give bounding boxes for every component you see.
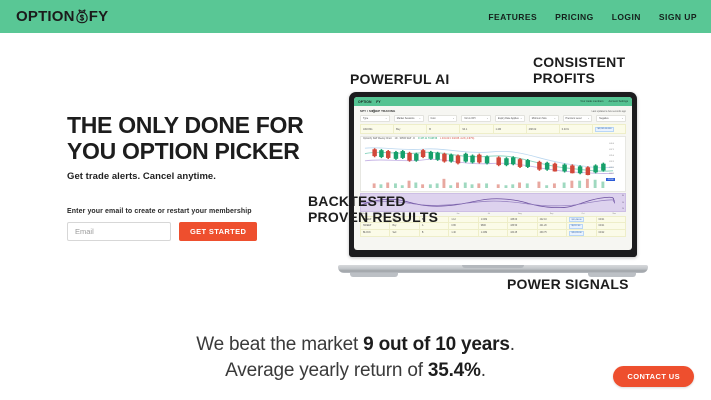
x-tick: Nov (613, 213, 616, 215)
callout-powerful-ai: POWERFUL AI (350, 72, 449, 88)
cell-target: 439.75 (538, 230, 567, 236)
stat-line-2: Average yearly return of 35.4%. (0, 358, 711, 384)
premium-box: $15,870.00 (569, 231, 584, 236)
chart-meta: 1D · SPDR S&P · D (395, 138, 415, 140)
chevron-down-icon: ▾ (386, 117, 387, 120)
nav-item-features[interactable]: FEATURES (488, 12, 537, 22)
site-header: OPTION FY FEATURES PRICING LOGIN SIGN UP (0, 0, 711, 33)
current-price-tag: 432.88 (606, 178, 615, 181)
stat-block: We beat the market 9 out of 10 years. Av… (0, 332, 711, 384)
x-tick: Oct (581, 213, 584, 215)
email-field[interactable] (67, 222, 171, 241)
cell-volume: 980K (479, 223, 508, 229)
callout-power-signals: POWER SIGNALS (507, 277, 629, 293)
hero-subtitle: Get trade alerts. Cancel anytime. (67, 171, 317, 182)
cell-expiry: 04/21 (597, 223, 625, 229)
cell-premium: $15,870.00 (567, 230, 596, 236)
summary-cell: B (427, 125, 460, 133)
summary-cell: ASKING (361, 125, 394, 133)
app-logo-text-after: FY (376, 100, 381, 104)
cell-target: 442.10 (538, 217, 567, 222)
chevron-down-icon: ▾ (622, 117, 623, 120)
app-titlebar: SPY / SWEEP TRADING Last updated a few s… (354, 106, 632, 114)
laptop-notch (465, 92, 521, 97)
filter-market-sessions[interactable]: Market Sessions▾ (394, 115, 424, 122)
main-nav: FEATURES PRICING LOGIN SIGN UP (488, 12, 697, 22)
cell-expiry: 04/22 (597, 230, 625, 236)
chart-plot-area: 440.0 437.5 435.0 432.5 430.0 427.5 (363, 141, 615, 177)
app-filter-bar: Type▾ Market Sessions▾ Cost▾ Vol vs OPI▾… (354, 114, 632, 124)
x-tick: Jul (488, 213, 490, 215)
summary-cell-highlight: $4,241.00 000 (593, 125, 625, 133)
premium-box: $12,430.00 (569, 217, 584, 222)
filter-label: Market Sessions (397, 117, 415, 120)
chevron-down-icon: ▾ (419, 117, 420, 120)
stat-line-2-pre: Average yearly return of (225, 360, 428, 381)
candlestick-chart: Optionify S&P Weekly Chart 1D · SPDR S&P… (360, 136, 626, 192)
laptop-deck (338, 265, 648, 273)
laptop-mockup: OPTION FY Your trade members Account Set… (338, 92, 648, 277)
summary-cell: 1.2M (494, 125, 527, 133)
osc-tick: 20 (622, 208, 624, 210)
cell-expiry: 04/21 (597, 217, 625, 222)
app-updated-text: Last updated a few seconds ago (592, 110, 626, 113)
laptop-trackpad-notch (462, 265, 524, 268)
filter-label: Minimum Size (532, 117, 547, 120)
landing-page: OPTION FY FEATURES PRICING LOGIN SIGN UP… (0, 0, 711, 400)
stat-line-1-pre: We beat the market (196, 334, 363, 355)
premium-box: $9,112.00 (569, 224, 583, 229)
nav-item-login[interactable]: LOGIN (612, 12, 641, 22)
filter-premium[interactable]: Premium Level▾ (563, 115, 593, 122)
cell-side: Sell (390, 230, 419, 236)
chevron-down-icon: ▾ (588, 117, 589, 120)
filter-label: Premium Level (566, 117, 582, 120)
volume-histogram (363, 177, 615, 188)
chevron-down-icon: ▾ (521, 117, 522, 120)
y-tick: 432.5 (609, 161, 614, 163)
logo-text-before: OPTION (16, 9, 75, 24)
stat-line-1-post: . (510, 334, 515, 355)
app-header-links: Your trade members Account Settings (580, 100, 628, 103)
y-tick: 435.0 (609, 155, 614, 157)
nav-item-signup[interactable]: SIGN UP (659, 12, 697, 22)
filter-label: Expiry Date Applies (498, 117, 519, 120)
osc-tick: 50 (622, 202, 624, 204)
contact-us-button[interactable]: CONTACT US (613, 366, 694, 387)
hero-copy-block: THE ONLY DONE FOR YOU OPTION PICKER Get … (67, 112, 317, 241)
table-row[interactable]: BLOCK Sell B 1.40 1.20M 434.25 439.75 $1… (360, 230, 626, 237)
x-tick: Aug (518, 213, 521, 215)
chart-ohlc-low: L 431.02 C 432.88 -4.23 (-0.97%) (440, 138, 474, 140)
x-tick: Sep (550, 213, 553, 215)
app-header: OPTION FY Your trade members Account Set… (354, 97, 632, 106)
y-tick: 440.0 (609, 143, 614, 145)
app-summary-row: ASKING Buy B 94.1 1.2M 438.02 0.41% $4,2… (360, 124, 626, 134)
cell-price: 0.86 (449, 223, 478, 229)
app-brand-logo: OPTION FY (358, 100, 381, 104)
chart-title: Optionify S&P Weekly Chart (363, 138, 392, 140)
cell-premium: $12,430.00 (567, 217, 596, 222)
cell-volume: 1.20M (479, 230, 508, 236)
chart-y-axis: 440.0 437.5 435.0 432.5 430.0 427.5 (605, 142, 614, 176)
chart-ohlc-high: O 437.11 H 438.56 (418, 138, 437, 140)
cell-strike: 436.50 (508, 223, 537, 229)
summary-cell: Buy (394, 125, 427, 133)
cell-strike: 434.25 (508, 230, 537, 236)
money-bag-icon (74, 9, 90, 25)
get-started-button[interactable]: GET STARTED (179, 222, 257, 241)
y-tick: 427.5 (609, 173, 614, 175)
stat-line-1-bold: 9 out of 10 years (363, 334, 510, 355)
stat-line-1: We beat the market 9 out of 10 years. (0, 332, 711, 358)
filter-min-size[interactable]: Minimum Size▾ (529, 115, 559, 122)
stat-line-2-post: . (481, 360, 486, 381)
cell-strike: 438.00 (508, 217, 537, 222)
callout-backtested-proven-results: BACKTESTED PROVEN RESULTS (308, 194, 438, 225)
app-page-title: SPY / SWEEP TRADING (360, 109, 395, 113)
filter-cost[interactable]: Cost▾ (428, 115, 458, 122)
summary-cell: 438.02 (527, 125, 560, 133)
callout-consistent-profits: CONSISTENT PROFITS (533, 55, 625, 86)
summary-cell: 0.41% (560, 125, 593, 133)
cell-price: 1.12 (449, 217, 478, 222)
chevron-down-icon: ▾ (453, 117, 454, 120)
y-tick: 437.5 (609, 149, 614, 151)
chevron-down-icon: ▾ (554, 117, 555, 120)
chevron-down-icon: ▾ (487, 117, 488, 120)
app-link-members[interactable]: Your trade members (580, 100, 603, 103)
laptop-lid: OPTION FY Your trade members Account Set… (349, 92, 637, 257)
laptop-foot-left (350, 273, 398, 277)
filter-negative[interactable]: Negative▾ (596, 115, 626, 122)
logo-text-after: FY (89, 9, 109, 24)
filter-label: Negative (599, 117, 608, 120)
nav-item-pricing[interactable]: PRICING (555, 12, 594, 22)
cell-price: 1.40 (449, 230, 478, 236)
cell-premium: $9,112.00 (567, 223, 596, 229)
filter-expiry[interactable]: Expiry Date Applies▾ (495, 115, 525, 122)
summary-value-box: $4,241.00 000 (595, 127, 614, 133)
osc-tick: 80 (622, 195, 624, 197)
x-tick: Jun (456, 213, 459, 215)
cell-flag: B (420, 230, 449, 236)
brand-logo[interactable]: OPTION FY (16, 9, 108, 25)
filter-label: Cost (431, 117, 436, 120)
app-screenshot: OPTION FY Your trade members Account Set… (354, 97, 632, 250)
cell-type: BLOCK (361, 230, 390, 236)
app-link-settings[interactable]: Account Settings (609, 100, 628, 103)
filter-type[interactable]: Type▾ (360, 115, 390, 122)
signup-form: GET STARTED (67, 222, 317, 241)
y-tick: 430.0 (609, 167, 614, 169)
app-logo-text-before: OPTION (358, 100, 372, 104)
signup-form-label: Enter your email to create or restart yo… (67, 208, 317, 215)
filter-vol-opi[interactable]: Vol vs OPI▾ (461, 115, 491, 122)
headline-line-1: THE ONLY DONE FOR (67, 112, 317, 138)
filter-label: Vol vs OPI (464, 117, 475, 120)
summary-cell: 94.1 (460, 125, 493, 133)
filter-label: Type (363, 117, 368, 120)
stat-line-2-bold: 35.4% (428, 360, 481, 381)
oscillator-y-axis: 80 50 20 (615, 195, 624, 210)
headline-line-2: YOU OPTION PICKER (67, 138, 317, 164)
page-title: THE ONLY DONE FOR YOU OPTION PICKER (67, 112, 317, 164)
cell-volume: 1.04M (479, 217, 508, 222)
cell-target: 441.20 (538, 223, 567, 229)
